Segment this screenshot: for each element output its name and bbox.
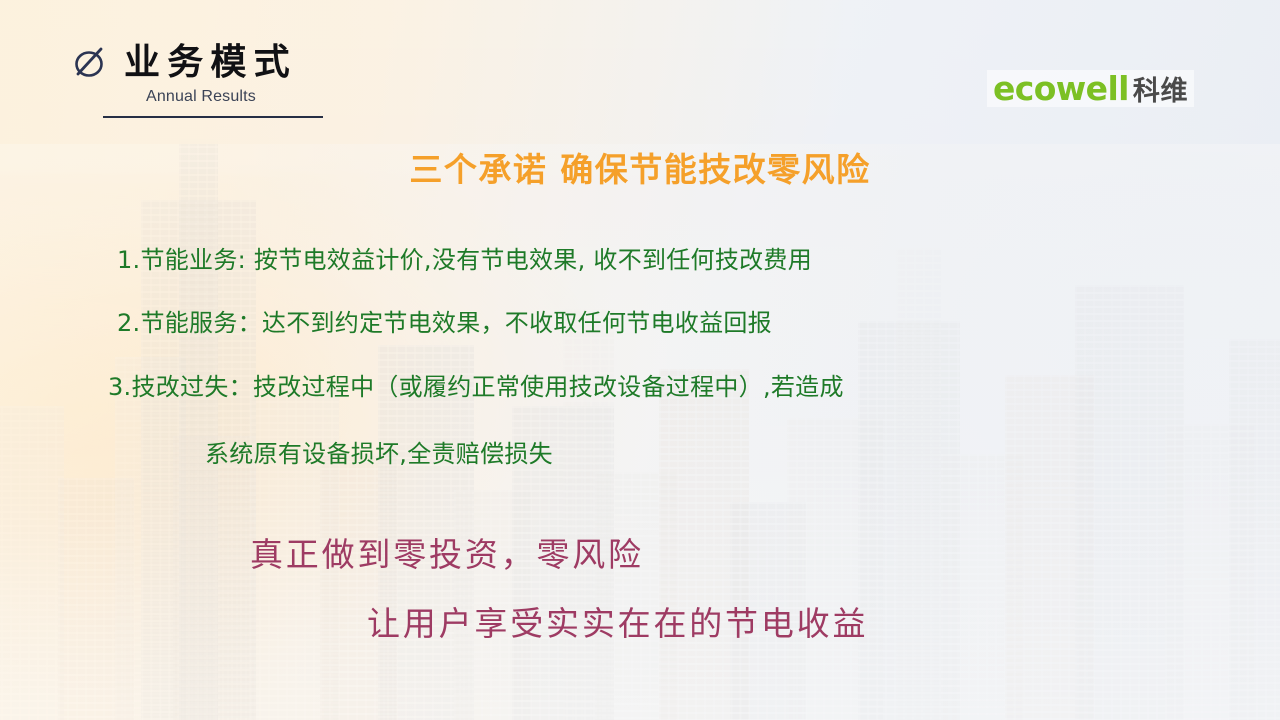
slide-body: 三个承诺 确保节能技改零风险 1.节能业务: 按节电效益计价,没有节电效果, 收… <box>0 0 1280 720</box>
promise-item-3: 3.技改过失：技改过程中（或履约正常使用技改设备过程中）,若造成 <box>108 367 844 402</box>
headline-text: 三个承诺 确保节能技改零风险 <box>0 143 1280 191</box>
promise-item-2: 2.节能服务：达不到约定节电效果，不收取任何节电收益回报 <box>117 303 772 338</box>
promise-item-3-continued: 系统原有设备损坏,全责赔偿损失 <box>205 434 553 469</box>
conclusion-line-2: 让用户享受实实在在的节电收益 <box>367 597 868 645</box>
promise-item-1: 1.节能业务: 按节电效益计价,没有节电效果, 收不到任何技改费用 <box>117 240 812 275</box>
presentation-slide: 业务模式 Annual Results ecowell 科维 三个承诺 确保节能… <box>0 0 1280 720</box>
conclusion-line-1: 真正做到零投资，零风险 <box>250 528 644 576</box>
